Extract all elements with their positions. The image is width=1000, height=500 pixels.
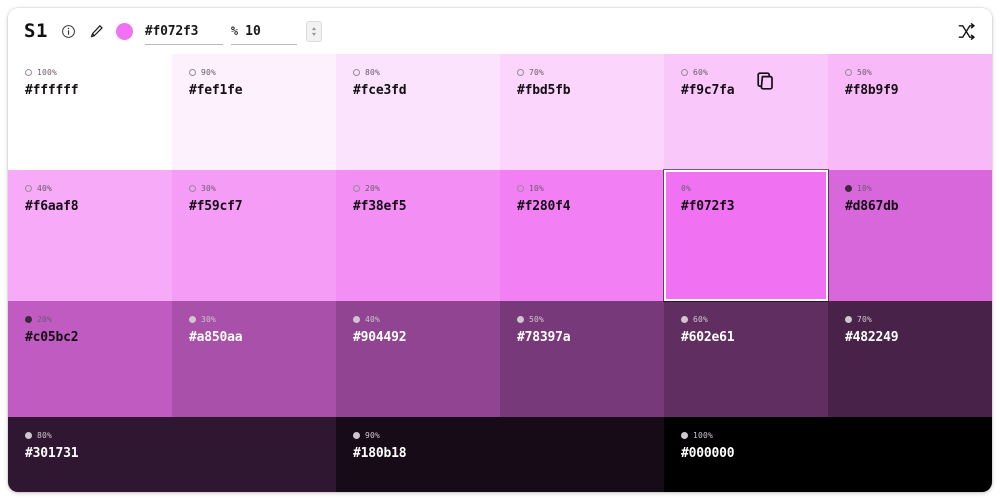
swatch-meta: 50% [517,314,664,325]
swatch-meta: 20% [353,183,500,194]
swatch-marker-icon [845,69,852,76]
swatch-marker-icon [681,69,688,76]
swatch-percent-label: 60% [693,315,708,324]
swatch-marker-icon [189,185,196,192]
swatch-percent-label: 70% [857,315,872,324]
swatch-meta: 40% [25,183,172,194]
percent-input-value: 10 [245,24,261,39]
swatch-meta: 70% [845,314,992,325]
swatch-meta: 20% [25,314,172,325]
swatch-percent-label: 50% [529,315,544,324]
palette-swatch-f59cf7[interactable]: 30%#f59cf7 [172,170,336,301]
swatch-meta: 30% [189,314,336,325]
palette-swatch-fef1fe[interactable]: 90%#fef1fe [172,54,336,170]
palette-swatch-fce3fd[interactable]: 80%#fce3fd [336,54,500,170]
swatch-meta: 100% [681,430,992,441]
swatch-percent-label: 70% [529,68,544,77]
swatch-hex-label: #f38ef5 [353,199,500,214]
palette-swatch-f072f3[interactable]: 0%#f072f3 [664,170,828,301]
swatch-hex-label: #f9c7fa [681,83,828,98]
swatch-hex-label: #f6aaf8 [25,199,172,214]
swatch-meta: 80% [353,67,500,78]
swatch-hex-label: #a850aa [189,330,336,345]
swatch-hex-label: #fce3fd [353,83,500,98]
swatch-meta: 10% [517,183,664,194]
palette-swatch-78397a[interactable]: 50%#78397a [500,301,664,417]
swatch-marker-icon [353,432,360,439]
swatch-hex-label: #602e61 [681,330,828,345]
swatch-marker-icon [845,316,852,323]
palette-swatch-a850aa[interactable]: 30%#a850aa [172,301,336,417]
swatch-marker-icon [845,185,852,192]
swatch-hex-label: #f280f4 [517,199,664,214]
swatch-meta: 10% [845,183,992,194]
swatch-meta: 50% [845,67,992,78]
swatch-hex-label: #000000 [681,446,992,461]
swatch-percent-label: 20% [37,315,52,324]
palette-row: 20%#c05bc230%#a850aa40%#90449250%#78397a… [8,301,992,417]
swatch-hex-label: #301731 [25,446,336,461]
palette-swatch-180b18[interactable]: 90%#180b18 [336,417,664,492]
swatch-hex-label: #904492 [353,330,500,345]
swatch-hex-label: #f072f3 [681,199,828,214]
palette-swatch-ffffff[interactable]: 100%#ffffff [8,54,172,170]
swatch-hex-label: #fbd5fb [517,83,664,98]
palette-row: 80%#30173190%#180b18100%#000000 [8,417,992,492]
swatch-percent-label: 80% [37,431,52,440]
swatch-marker-icon [25,316,32,323]
palette-row: 40%#f6aaf830%#f59cf720%#f38ef510%#f280f4… [8,170,992,301]
swatch-percent-label: 30% [201,315,216,324]
swatch-meta: 60% [681,67,828,78]
swatch-meta: 90% [189,67,336,78]
palette-row: 100%#ffffff90%#fef1fe80%#fce3fd70%#fbd5f… [8,54,992,170]
toolbar: S1 #f072f3 % 10 [8,8,992,54]
swatch-percent-label: 10% [529,184,544,193]
swatch-meta: 60% [681,314,828,325]
swatch-marker-icon [353,316,360,323]
swatch-meta: 90% [353,430,664,441]
swatch-meta: 40% [353,314,500,325]
palette-swatch-f9c7fa[interactable]: 60%#f9c7fa [664,54,828,170]
palette-swatch-f6aaf8[interactable]: 40%#f6aaf8 [8,170,172,301]
swatch-percent-label: 90% [365,431,380,440]
scale-name-label: S1 [24,20,48,42]
swatch-percent-label: 80% [365,68,380,77]
palette-swatch-f8b9f9[interactable]: 50%#f8b9f9 [828,54,992,170]
swatch-hex-label: #c05bc2 [25,330,172,345]
swatch-percent-label: 90% [201,68,216,77]
swatch-hex-label: #ffffff [25,83,172,98]
hex-input-value: #f072f3 [145,24,198,39]
swatch-hex-label: #180b18 [353,446,664,461]
swatch-meta: 30% [189,183,336,194]
palette-swatch-f280f4[interactable]: 10%#f280f4 [500,170,664,301]
palette-swatch-f38ef5[interactable]: 20%#f38ef5 [336,170,500,301]
palette-swatch-fbd5fb[interactable]: 70%#fbd5fb [500,54,664,170]
info-circle-icon[interactable] [59,21,79,41]
current-color-swatch[interactable] [116,23,133,40]
swatch-marker-icon [189,69,196,76]
palette-swatch-301731[interactable]: 80%#301731 [8,417,336,492]
swatch-hex-label: #f8b9f9 [845,83,992,98]
swatch-marker-icon [353,185,360,192]
swatch-percent-label: 50% [857,68,872,77]
palette-swatch-482249[interactable]: 70%#482249 [828,301,992,417]
swatch-percent-label: 40% [365,315,380,324]
swatch-marker-icon [681,432,688,439]
swatch-marker-icon [517,316,524,323]
hex-input-underline [145,44,223,45]
swatch-hex-label: #f59cf7 [189,199,336,214]
swatch-marker-icon [25,185,32,192]
palette-swatch-904492[interactable]: 40%#904492 [336,301,500,417]
color-scale-window: S1 #f072f3 % 10 [8,8,992,492]
shuffle-icon[interactable] [954,19,978,43]
percent-stepper[interactable] [306,21,322,42]
swatch-meta: 80% [25,430,336,441]
pencil-icon[interactable] [87,21,107,41]
palette-swatch-d867db[interactable]: 10%#d867db [828,170,992,301]
copy-icon[interactable] [756,71,776,95]
percent-input[interactable]: % 10 [231,17,297,45]
swatch-marker-icon [353,69,360,76]
palette-swatch-c05bc2[interactable]: 20%#c05bc2 [8,301,172,417]
swatch-percent-label: 40% [37,184,52,193]
percent-input-underline [231,44,297,45]
swatch-marker-icon [25,69,32,76]
swatch-marker-icon [189,316,196,323]
palette-grid: 100%#ffffff90%#fef1fe80%#fce3fd70%#fbd5f… [8,54,992,492]
swatch-percent-label: 10% [857,184,872,193]
swatch-marker-icon [681,316,688,323]
swatch-percent-label: 100% [37,68,57,77]
swatch-marker-icon [517,69,524,76]
palette-swatch-000000[interactable]: 100%#000000 [664,417,992,492]
swatch-percent-label: 100% [693,431,713,440]
swatch-marker-icon [517,185,524,192]
swatch-hex-label: #fef1fe [189,83,336,98]
percent-symbol: % [231,24,238,38]
swatch-meta: 0% [681,183,828,194]
swatch-percent-label: 30% [201,184,216,193]
swatch-hex-label: #78397a [517,330,664,345]
hex-input[interactable]: #f072f3 [145,17,223,45]
swatch-percent-label: 0% [681,184,691,193]
swatch-meta: 100% [25,67,172,78]
swatch-hex-label: #482249 [845,330,992,345]
swatch-marker-icon [25,432,32,439]
swatch-percent-label: 60% [693,68,708,77]
swatch-hex-label: #d867db [845,199,992,214]
palette-swatch-602e61[interactable]: 60%#602e61 [664,301,828,417]
swatch-percent-label: 20% [365,184,380,193]
swatch-meta: 70% [517,67,664,78]
